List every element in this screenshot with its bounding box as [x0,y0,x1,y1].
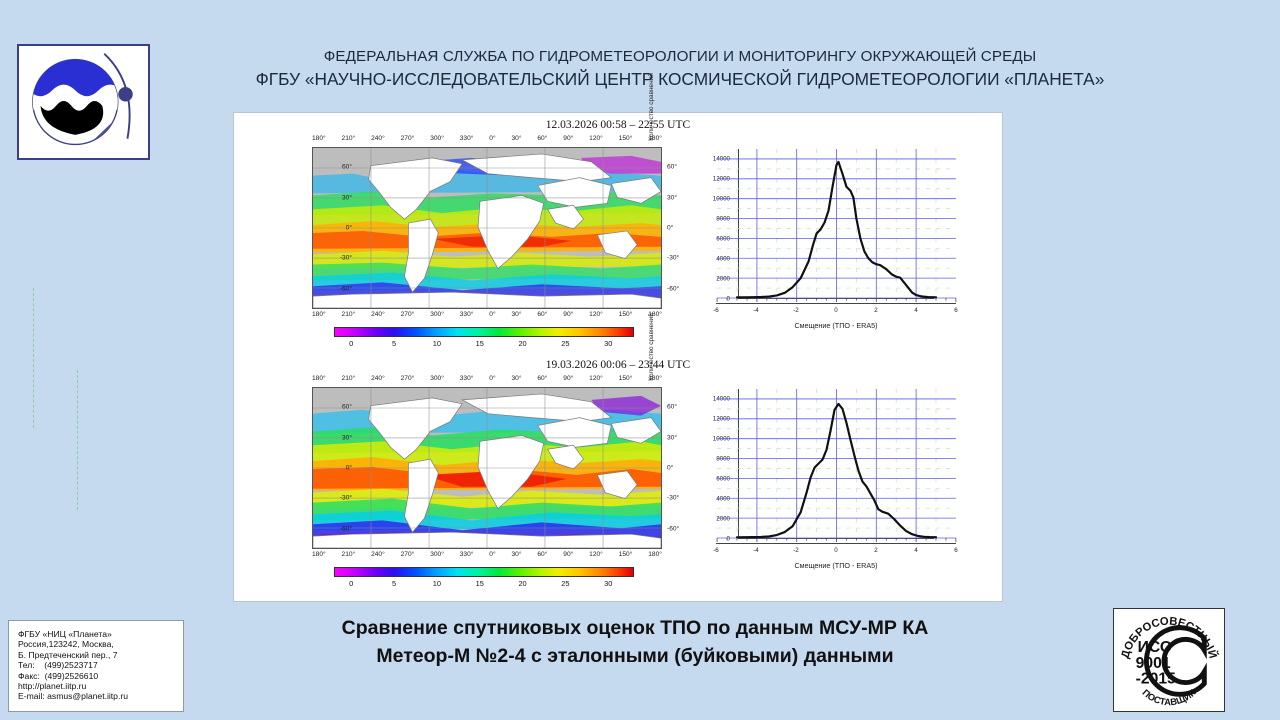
map2-lon-tick-6: 0° [489,375,495,382]
vertical-guide-left [33,288,34,428]
map2-lat-axis-left: 60°30°0°-30°-60° [264,387,308,549]
contact-info-box: ФГБУ «НИЦ «Планета»Россия,123242, Москва… [8,620,184,712]
hist2-plot [738,389,934,539]
map1-colorbar-tick-0: 0 [349,339,353,348]
map2-lon-tick-2: 240° [371,551,385,558]
hist1-ytick-2: 4000 [716,256,730,263]
hist1-xtick-5: 4 [914,307,917,314]
map2-colorbar-tick-4: 20 [518,579,526,588]
hist1-plot [738,149,934,299]
map2-lon-tick-3: 270° [401,375,415,382]
header-line-1: ФЕДЕРАЛЬНАЯ СЛУЖБА ПО ГИДРОМЕТЕОРОЛОГИИ … [150,46,1210,67]
map1-lon-tick-1: 210° [342,311,356,318]
map2-svg [313,388,661,548]
hist1-yticks: 02000400060008000100001200014000 [686,149,734,299]
figure-row-1: 180°210°240°270°300°330°0°30°60°90°120°1… [234,135,1002,365]
map2-lon-tick-10: 120° [589,551,603,558]
map2-lon-tick-12: 180° [648,551,662,558]
hist2-ytick-1: 2000 [716,516,730,523]
svg-text:ИСО: ИСО [1138,639,1172,656]
map1-colorbar-ticks: 051015202530 [334,339,634,351]
map2-lon-tick-5: 330° [460,551,474,558]
map1-colorbar: 051015202530 [334,327,634,351]
hist1-xticks: -6-4-20246 [738,307,934,319]
hist2-xtick-2: -2 [793,547,799,554]
vertical-guide-right [77,370,78,510]
contact-line-6: http://planet.iitp.ru [18,681,183,691]
map1-colorbar-tick-3: 15 [476,339,484,348]
map2-lat-tick-1: 30° [308,434,356,441]
map2-colorbar-tick-5: 25 [561,579,569,588]
hist1-xtick-6: 6 [954,307,957,314]
hist2-xtick-5: 4 [914,547,917,554]
map1-lat-tick-3: -30° [308,255,356,262]
map1-lon-tick-6: 0° [489,311,495,318]
map1-lon-axis-top: 180°210°240°270°300°330°0°30°60°90°120°1… [312,135,662,142]
map2-lat-tick-2: 0° [308,465,356,472]
hist2-ytick-3: 6000 [716,476,730,483]
map1-lon-tick-2: 240° [371,135,385,142]
hist2-xtick-4: 2 [874,547,877,554]
hist1-xtick-3: 0 [834,307,837,314]
planeta-logo [17,44,150,160]
page-header: ФЕДЕРАЛЬНАЯ СЛУЖБА ПО ГИДРОМЕТЕОРОЛОГИИ … [150,46,1210,91]
map2-lon-tick-1: 210° [342,375,356,382]
map2-lon-tick-7: 30° [512,551,522,558]
map2-colorbar-tick-0: 0 [349,579,353,588]
hist2-xtick-6: 6 [954,547,957,554]
map2-colorbar: 051015202530 [334,567,634,591]
map2-lon-tick-5: 330° [460,375,474,382]
map2-lon-tick-7: 30° [512,375,522,382]
map1-lon-tick-9: 90° [563,311,573,318]
map1-lat-tick-0: 60° [308,164,356,171]
map2-colorbar-gradient [334,567,634,577]
hist2-xticks: -6-4-20246 [738,547,934,559]
slide-caption: Сравнение спутниковых оценок ТПО по данн… [240,614,1030,670]
iso-stamp-icon: ДОБРОСОВЕСТНЫЙ ПОСТАВЩИК ИСО 9001 -2015 [1114,609,1224,711]
map1-lon-tick-3: 270° [401,135,415,142]
map1-lat-tick-4: -60° [308,285,356,292]
iso-certification-stamp: ДОБРОСОВЕСТНЫЙ ПОСТАВЩИК ИСО 9001 -2015 [1113,608,1225,712]
map2-colorbar-tick-2: 10 [433,579,441,588]
map2-lon-tick-2: 240° [371,375,385,382]
map2-lon-axis-bottom: 180°210°240°270°300°330°0°30°60°90°120°1… [312,551,662,558]
map1-lon-tick-4: 300° [430,135,444,142]
date-title-2: 19.03.2026 00:06 – 23:44 UTC [234,359,1002,371]
map2-lon-tick-10: 120° [589,375,603,382]
map1-lon-tick-2: 240° [371,311,385,318]
map2-lon-tick-4: 300° [430,375,444,382]
hist1-xtick-2: -2 [793,307,799,314]
map2-lon-tick-11: 150° [619,551,633,558]
map1-lon-tick-10: 120° [589,135,603,142]
caption-line-2: Метеор-М №2-4 с эталонными (буйковыми) д… [240,642,1030,670]
map1-lon-tick-7: 30° [512,135,522,142]
map1-colorbar-gradient [334,327,634,337]
map2-lon-axis-top: 180°210°240°270°300°330°0°30°60°90°120°1… [312,375,662,382]
hist1-xtick-0: -6 [713,307,719,314]
map2-lon-tick-9: 90° [563,551,573,558]
contact-line-3: Б. Предтеченский пер., 7 [18,650,183,660]
bias-histogram-1: Количество сравнений 0200040006000800010… [686,137,986,355]
hist1-ytick-3: 6000 [716,236,730,243]
hist2-xlabel: Смещение (ТПО - ERA5) [738,561,934,570]
map1-canvas [312,147,662,309]
contact-line-4: Тел: (499)2523717 [18,660,183,670]
hist1-ytick-4: 8000 [716,216,730,223]
hist1-ytick-1: 2000 [716,276,730,283]
contact-line-7: E-mail: asmus@planet.iitp.ru [18,691,183,701]
map2-colorbar-tick-6: 30 [604,579,612,588]
map1-lat-tick-2: 0° [308,225,356,232]
figures-panel: 12.03.2026 00:58 – 22:55 UTC 180°210°240… [233,112,1003,602]
hist1-xaxis-line [716,303,956,304]
map1-colorbar-tick-2: 10 [433,339,441,348]
map2-lon-tick-3: 270° [401,551,415,558]
map1-lon-tick-5: 330° [460,135,474,142]
hist2-svg [739,389,934,538]
map2-lon-tick-1: 210° [342,551,356,558]
date-title-1: 12.03.2026 00:58 – 22:55 UTC [234,119,1002,131]
figure-row-2: 180°210°240°270°300°330°0°30°60°90°120°1… [234,375,1002,605]
hist2-ytick-4: 8000 [716,456,730,463]
map1-lon-tick-11: 150° [619,135,633,142]
map1-lon-tick-1: 210° [342,135,356,142]
map2-lat-tick-3: -30° [308,495,356,502]
map2-lon-tick-8: 60° [537,375,547,382]
sst-map-2: 180°210°240°270°300°330°0°30°60°90°120°1… [264,375,679,595]
map1-lon-tick-0: 180° [312,311,326,318]
hist1-xtick-1: -4 [753,307,759,314]
hist1-ylabel: Количество сравнений [648,47,655,167]
map2-lon-tick-8: 60° [537,551,547,558]
caption-line-1: Сравнение спутниковых оценок ТПО по данн… [240,614,1030,642]
map1-lon-tick-7: 30° [512,311,522,318]
hist2-xaxis-line [716,543,956,544]
map1-colorbar-tick-1: 5 [392,339,396,348]
header-line-2: ФГБУ «НАУЧНО-ИССЛЕДОВАТЕЛЬСКИЙ ЦЕНТР КОС… [150,67,1210,91]
contact-line-5: Факс: (499)2526610 [18,671,183,681]
map1-lon-tick-5: 330° [460,311,474,318]
planeta-logo-icon [19,46,148,158]
map1-lon-tick-8: 60° [537,311,547,318]
map1-lat-tick-1: 30° [308,194,356,201]
contact-line-1: ФГБУ «НИЦ «Планета» [18,629,183,639]
hist2-ytick-2: 4000 [716,496,730,503]
map2-colorbar-tick-3: 15 [476,579,484,588]
hist1-svg [739,149,934,298]
map1-lon-tick-0: 180° [312,135,326,142]
map2-lon-tick-9: 90° [563,375,573,382]
map1-lon-tick-3: 270° [401,311,415,318]
map1-colorbar-tick-4: 20 [518,339,526,348]
map2-colorbar-ticks: 051015202530 [334,579,634,591]
sst-map-1: 180°210°240°270°300°330°0°30°60°90°120°1… [264,135,679,355]
bias-histogram-2: Количество сравнений 0200040006000800010… [686,377,986,595]
hist2-ylabel: Количество сравнений [648,287,655,407]
map2-lat-tick-0: 60° [308,404,356,411]
hist1-xlabel: Смещение (ТПО - ERA5) [738,321,934,330]
map2-lon-tick-0: 180° [312,375,326,382]
contact-line-2: Россия,123242, Москва, [18,639,183,649]
hist2-xtick-3: 0 [834,547,837,554]
hist2-yticks: 02000400060008000100001200014000 [686,389,734,539]
map1-lon-tick-4: 300° [430,311,444,318]
svg-text:-2015: -2015 [1136,671,1176,688]
map2-lon-tick-6: 0° [489,551,495,558]
map1-lon-tick-9: 90° [563,135,573,142]
hist2-xtick-0: -6 [713,547,719,554]
map1-lon-tick-8: 60° [537,135,547,142]
map2-colorbar-tick-1: 5 [392,579,396,588]
map2-lon-tick-4: 300° [430,551,444,558]
svg-text:9001: 9001 [1136,655,1171,672]
hist1-xtick-4: 2 [874,307,877,314]
map1-lat-axis-left: 60°30°0°-30°-60° [264,147,308,309]
map2-lat-tick-4: -60° [308,525,356,532]
hist2-xtick-1: -4 [753,547,759,554]
map2-lon-tick-0: 180° [312,551,326,558]
map1-lon-tick-11: 150° [619,311,633,318]
map1-colorbar-tick-6: 30 [604,339,612,348]
map2-canvas [312,387,662,549]
map1-svg [313,148,661,308]
map1-lon-tick-10: 120° [589,311,603,318]
map1-colorbar-tick-5: 25 [561,339,569,348]
map1-lon-axis-bottom: 180°210°240°270°300°330°0°30°60°90°120°1… [312,311,662,318]
map2-lon-tick-11: 150° [619,375,633,382]
map1-lon-tick-6: 0° [489,135,495,142]
